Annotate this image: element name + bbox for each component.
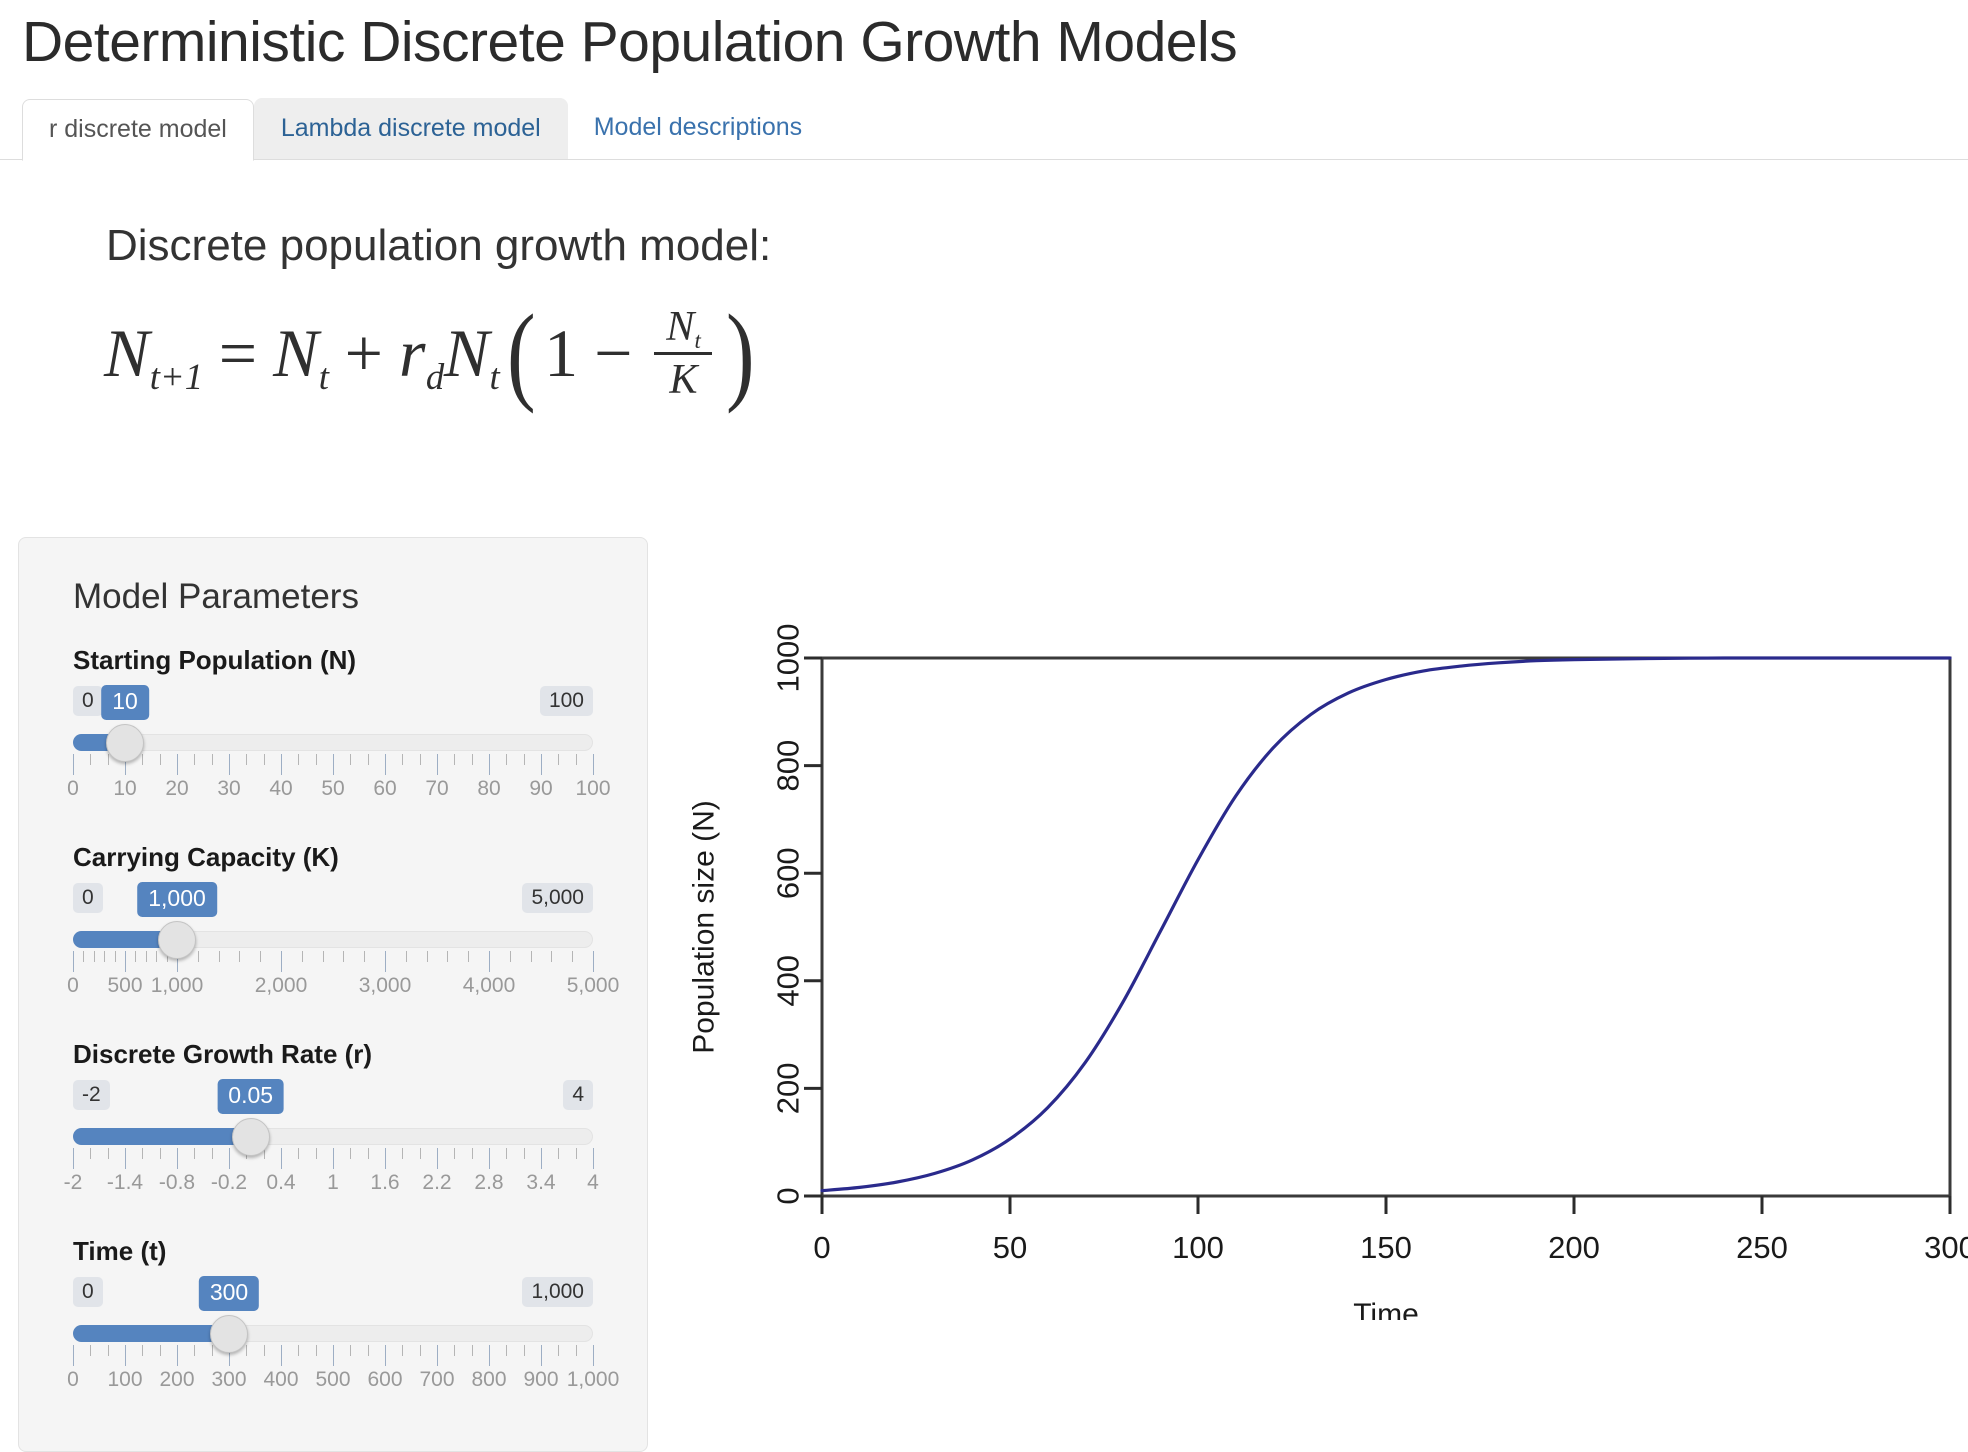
- slider-minor-tick: [531, 951, 532, 962]
- slider-tick: [125, 1345, 126, 1366]
- slider-label-starting-population: Starting Population (N): [73, 645, 593, 676]
- slider-minor-tick: [135, 951, 136, 962]
- slider-tick-label: 800: [471, 1369, 506, 1390]
- slider-minor-tick: [316, 1345, 317, 1356]
- x-axis-tick-label: 50: [993, 1230, 1027, 1265]
- math-subscript: t: [490, 356, 500, 397]
- slider-tick-label: 1.6: [370, 1172, 399, 1193]
- slider-tick: [437, 1148, 438, 1169]
- slider-minor-tick: [90, 1345, 91, 1356]
- math-subscript: d: [426, 356, 444, 397]
- slider-minor-tick: [472, 754, 473, 765]
- y-axis-tick-label: 800: [771, 740, 806, 792]
- slider-minor-tick: [454, 1345, 455, 1356]
- slider-tick-label: 900: [523, 1369, 558, 1390]
- math-right-paren: ): [726, 298, 755, 408]
- math-minus: −: [594, 319, 632, 387]
- slider-minor-tick: [219, 951, 220, 962]
- slider-minor-tick: [350, 1345, 351, 1356]
- slider-tick-label: 50: [321, 778, 344, 799]
- slider-block-carrying-capacity: Carrying Capacity (K)05,0001,00005001,00…: [73, 842, 593, 1013]
- slider-minor-tick: [420, 1148, 421, 1159]
- slider-tick-label: 500: [107, 975, 142, 996]
- slider-minor-tick: [298, 754, 299, 765]
- slider-carrying-capacity[interactable]: 05,0001,00005001,0002,0003,0004,0005,000: [73, 883, 593, 1013]
- math-fraction-Nt-over-K: Nt K: [654, 304, 712, 402]
- slider-minor-tick: [115, 951, 116, 962]
- slider-minor-tick: [264, 1345, 265, 1356]
- slider-value-starting-population: 10: [101, 685, 149, 720]
- slider-tick: [385, 951, 386, 972]
- slider-tick: [541, 754, 542, 775]
- slider-minor-tick: [472, 1148, 473, 1159]
- slider-tick: [177, 754, 178, 775]
- slider-handle-time[interactable]: [210, 1315, 248, 1353]
- slider-fill-discrete-growth-rate: [73, 1128, 251, 1145]
- slider-minor-tick: [454, 754, 455, 765]
- slider-tick: [593, 1345, 594, 1366]
- slider-tick-label: 0: [67, 1369, 79, 1390]
- math-expression: Nt+1 = Nt + rd Nt ( 1 − Nt K ): [104, 298, 763, 408]
- model-heading: Discrete population growth model:: [0, 160, 1968, 270]
- slider-tick: [437, 1345, 438, 1366]
- slider-minor-tick: [212, 754, 213, 765]
- model-parameters-panel: Model Parameters Starting Population (N)…: [18, 537, 648, 1452]
- slider-tick: [593, 754, 594, 775]
- slider-tick-label: 0.4: [266, 1172, 295, 1193]
- slider-max-starting-population: 100: [540, 686, 593, 716]
- slider-minor-tick: [468, 951, 469, 962]
- slider-minor-tick: [160, 1345, 161, 1356]
- slider-minor-tick: [402, 1345, 403, 1356]
- slider-tick-label: 3,000: [359, 975, 412, 996]
- math-N-t-plus-1: Nt+1: [104, 319, 203, 387]
- slider-handle-discrete-growth-rate[interactable]: [232, 1118, 270, 1156]
- slider-minor-tick: [104, 951, 105, 962]
- slider-block-discrete-growth-rate: Discrete Growth Rate (r)-240.05-2-1.4-0.…: [73, 1039, 593, 1210]
- slider-minor-tick: [402, 1148, 403, 1159]
- slider-minor-tick: [350, 1148, 351, 1159]
- slider-tick: [73, 754, 74, 775]
- slider-starting-population[interactable]: 0100100102030405060708090100: [73, 686, 593, 816]
- slider-minor-tick: [576, 1345, 577, 1356]
- slider-tick: [333, 1345, 334, 1366]
- slider-minor-tick: [558, 754, 559, 765]
- y-axis-title: Population size (N): [688, 800, 721, 1053]
- slider-minor-tick: [156, 951, 157, 962]
- slider-minor-tick: [90, 754, 91, 765]
- slider-minor-tick: [402, 754, 403, 765]
- slider-minor-tick: [524, 1345, 525, 1356]
- slider-time[interactable]: 01,00030001002003004005006007008009001,0…: [73, 1277, 593, 1407]
- slider-minor-tick: [447, 951, 448, 962]
- math-fraction-numerator: Nt: [662, 304, 704, 352]
- math-plus: +: [345, 319, 383, 387]
- slider-label-discrete-growth-rate: Discrete Growth Rate (r): [73, 1039, 593, 1070]
- slider-minor-tick: [558, 1345, 559, 1356]
- tab-label: Lambda discrete model: [281, 114, 541, 142]
- slider-minor-tick: [350, 754, 351, 765]
- slider-tick-label: 60: [373, 778, 396, 799]
- y-axis-tick-label: 200: [771, 1063, 806, 1115]
- slider-tick: [593, 1148, 594, 1169]
- slider-minor-tick: [194, 754, 195, 765]
- math-N-t-2: Nt: [444, 319, 500, 387]
- slider-tick-label: 100: [575, 778, 610, 799]
- y-axis-tick-label: 0: [771, 1187, 806, 1204]
- math-subscript: t+1: [150, 356, 203, 397]
- slider-minor-tick: [142, 1345, 143, 1356]
- slider-tick-label: 500: [315, 1369, 350, 1390]
- slider-label-time: Time (t): [73, 1236, 593, 1267]
- slider-grid-discrete-growth-rate: -2-1.4-0.8-0.20.411.62.22.83.44: [73, 1148, 593, 1174]
- math-subscript: t: [695, 328, 701, 353]
- slider-minor-tick: [108, 1148, 109, 1159]
- slider-tick-label: -0.8: [159, 1172, 195, 1193]
- y-axis-tick-label: 400: [771, 955, 806, 1007]
- slider-tick-label: 100: [107, 1369, 142, 1390]
- slider-tick: [541, 1345, 542, 1366]
- slider-value-time: 300: [199, 1276, 259, 1311]
- slider-tick-label: 700: [419, 1369, 454, 1390]
- math-left-paren: (: [507, 298, 536, 408]
- slider-tick-label: 90: [529, 778, 552, 799]
- slider-max-time: 1,000: [522, 1277, 593, 1307]
- panel-title: Model Parameters: [73, 578, 593, 617]
- slider-tick-label: 80: [477, 778, 500, 799]
- page-title: Deterministic Discrete Population Growth…: [0, 0, 1968, 76]
- y-axis-tick-label: 1000: [771, 624, 806, 693]
- slider-tick: [541, 1148, 542, 1169]
- slider-tick-label: 1,000: [151, 975, 204, 996]
- slider-value-carrying-capacity: 1,000: [137, 882, 217, 917]
- model-formula: Nt+1 = Nt + rd Nt ( 1 − Nt K ): [0, 270, 1968, 420]
- slider-tick: [281, 1148, 282, 1169]
- slider-minor-tick: [212, 1148, 213, 1159]
- tab-label: r discrete model: [49, 115, 227, 143]
- slider-minor-tick: [472, 1345, 473, 1356]
- slider-minor-tick: [142, 1148, 143, 1159]
- population-growth-plot: 05010015020025030002004006008001000TimeP…: [680, 560, 1968, 1320]
- slider-minor-tick: [506, 754, 507, 765]
- slider-minor-tick: [506, 1345, 507, 1356]
- slider-minor-tick: [343, 951, 344, 962]
- x-axis-tick-label: 250: [1736, 1230, 1788, 1265]
- slider-minor-tick: [316, 754, 317, 765]
- slider-tick-label: 5,000: [567, 975, 620, 996]
- slider-tick: [385, 1345, 386, 1366]
- tab-lambda-discrete-model[interactable]: Lambda discrete model: [254, 98, 568, 160]
- slider-minor-tick: [108, 1345, 109, 1356]
- x-axis-title: Time: [1353, 1298, 1419, 1320]
- slider-tick: [489, 1148, 490, 1169]
- slider-grid-carrying-capacity: 05001,0002,0003,0004,0005,000: [73, 951, 593, 977]
- slider-tick-label: 4: [587, 1172, 599, 1193]
- slider-minor-tick: [551, 951, 552, 962]
- slider-tick-label: 20: [165, 778, 188, 799]
- slider-grid-starting-population: 0102030405060708090100: [73, 754, 593, 780]
- math-fraction-denominator: K: [665, 355, 701, 403]
- slider-minor-tick: [239, 951, 240, 962]
- slider-tick: [489, 1345, 490, 1366]
- slider-tick: [333, 1148, 334, 1169]
- slider-tick-label: 40: [269, 778, 292, 799]
- slider-tick: [385, 1148, 386, 1169]
- slider-tick-label: 2,000: [255, 975, 308, 996]
- slider-tick: [125, 1148, 126, 1169]
- slider-minor-tick: [108, 754, 109, 765]
- slider-minor-tick: [576, 1148, 577, 1159]
- tab-bar: r discrete model Lambda discrete model M…: [0, 98, 1968, 160]
- slider-block-starting-population: Starting Population (N)01001001020304050…: [73, 645, 593, 816]
- slider-max-discrete-growth-rate: 4: [563, 1080, 593, 1110]
- sliders-container: Starting Population (N)01001001020304050…: [73, 645, 593, 1408]
- slider-minor-tick: [524, 1148, 525, 1159]
- slider-tick-label: 30: [217, 778, 240, 799]
- slider-minor-tick: [364, 951, 365, 962]
- slider-tick: [333, 754, 334, 775]
- slider-tick: [229, 1148, 230, 1169]
- math-one: 1: [544, 319, 578, 387]
- slider-tick: [281, 754, 282, 775]
- slider-tick: [177, 1148, 178, 1169]
- slider-track-starting-population[interactable]: [73, 734, 593, 751]
- math-subscript: t: [319, 356, 329, 397]
- slider-minor-tick: [368, 754, 369, 765]
- slider-minor-tick: [323, 951, 324, 962]
- slider-tick: [125, 951, 126, 972]
- slider-minor-tick: [260, 951, 261, 962]
- slider-minor-tick: [420, 1345, 421, 1356]
- slider-tick-label: -0.2: [211, 1172, 247, 1193]
- math-r-d: rd: [399, 319, 444, 387]
- slider-max-carrying-capacity: 5,000: [522, 883, 593, 913]
- slider-tick: [489, 951, 490, 972]
- slider-minor-tick: [298, 1345, 299, 1356]
- slider-tick: [281, 951, 282, 972]
- slider-minor-tick: [298, 1148, 299, 1159]
- slider-minor-tick: [576, 754, 577, 765]
- slider-tick-label: 300: [211, 1369, 246, 1390]
- slider-tick-label: 2.2: [422, 1172, 451, 1193]
- slider-minor-tick: [246, 1345, 247, 1356]
- y-axis-tick-label: 600: [771, 847, 806, 899]
- slider-tick-label: 2.8: [474, 1172, 503, 1193]
- tab-r-discrete-model[interactable]: r discrete model: [22, 99, 254, 161]
- tab-label: Model descriptions: [594, 113, 802, 141]
- x-axis-tick-label: 150: [1360, 1230, 1412, 1265]
- slider-minor-tick: [302, 951, 303, 962]
- slider-tick-label: 200: [159, 1369, 194, 1390]
- slider-tick: [489, 754, 490, 775]
- slider-tick: [177, 1345, 178, 1366]
- slider-minor-tick: [427, 951, 428, 962]
- x-axis-tick-label: 0: [813, 1230, 830, 1265]
- slider-minor-tick: [146, 951, 147, 962]
- slider-value-discrete-growth-rate: 0.05: [217, 1079, 284, 1114]
- slider-minor-tick: [524, 754, 525, 765]
- slider-tick-label: -1.4: [107, 1172, 143, 1193]
- slider-tick-label: -2: [64, 1172, 83, 1193]
- slider-minor-tick: [198, 951, 199, 962]
- math-equals: =: [219, 319, 257, 387]
- slider-minor-tick: [142, 754, 143, 765]
- slider-grid-time: 01002003004005006007008009001,000: [73, 1345, 593, 1371]
- slider-label-carrying-capacity: Carrying Capacity (K): [73, 842, 593, 873]
- tab-model-descriptions[interactable]: Model descriptions: [568, 98, 828, 160]
- slider-minor-tick: [194, 1148, 195, 1159]
- slider-tick: [73, 1148, 74, 1169]
- slider-tick-label: 1,000: [567, 1369, 620, 1390]
- slider-min-carrying-capacity: 0: [73, 883, 103, 913]
- slider-tick: [593, 951, 594, 972]
- slider-minor-tick: [558, 1148, 559, 1159]
- slider-min-time: 0: [73, 1277, 103, 1307]
- slider-minor-tick: [212, 1345, 213, 1356]
- slider-tick-label: 0: [67, 975, 79, 996]
- slider-min-starting-population: 0: [73, 686, 103, 716]
- math-N-t: Nt: [273, 319, 329, 387]
- slider-minor-tick: [90, 1148, 91, 1159]
- plot-frame: [822, 658, 1950, 1196]
- slider-minor-tick: [246, 754, 247, 765]
- x-axis-tick-label: 100: [1172, 1230, 1224, 1265]
- slider-tick-label: 1: [327, 1172, 339, 1193]
- slider-minor-tick: [510, 951, 511, 962]
- slider-minor-tick: [368, 1148, 369, 1159]
- slider-minor-tick: [94, 951, 95, 962]
- slider-tick: [73, 951, 74, 972]
- slider-tick: [73, 1345, 74, 1366]
- slider-tick: [437, 754, 438, 775]
- slider-minor-tick: [368, 1345, 369, 1356]
- slider-minor-tick: [572, 951, 573, 962]
- slider-minor-tick: [454, 1148, 455, 1159]
- slider-minor-tick: [160, 1148, 161, 1159]
- slider-minor-tick: [420, 754, 421, 765]
- slider-discrete-growth-rate[interactable]: -240.05-2-1.4-0.8-0.20.411.62.22.83.44: [73, 1080, 593, 1210]
- x-axis-tick-label: 200: [1548, 1230, 1600, 1265]
- slider-minor-tick: [506, 1148, 507, 1159]
- slider-min-discrete-growth-rate: -2: [73, 1080, 110, 1110]
- slider-tick-label: 4,000: [463, 975, 516, 996]
- slider-minor-tick: [406, 951, 407, 962]
- slider-minor-tick: [264, 754, 265, 765]
- slider-handle-carrying-capacity[interactable]: [158, 921, 196, 959]
- slider-tick-label: 400: [263, 1369, 298, 1390]
- slider-minor-tick: [160, 754, 161, 765]
- slider-tick-label: 70: [425, 778, 448, 799]
- slider-tick: [385, 754, 386, 775]
- slider-fill-time: [73, 1325, 229, 1342]
- slider-minor-tick: [83, 951, 84, 962]
- plot-svg: 05010015020025030002004006008001000TimeP…: [680, 560, 1968, 1320]
- plot-line-series: [822, 658, 1950, 1191]
- slider-tick-label: 0: [67, 778, 79, 799]
- x-axis-tick-label: 300: [1924, 1230, 1968, 1265]
- slider-tick: [281, 1345, 282, 1366]
- slider-block-time: Time (t)01,00030001002003004005006007008…: [73, 1236, 593, 1407]
- slider-tick: [229, 754, 230, 775]
- slider-minor-tick: [316, 1148, 317, 1159]
- slider-tick-label: 3.4: [526, 1172, 555, 1193]
- slider-minor-tick: [194, 1345, 195, 1356]
- slider-handle-starting-population[interactable]: [106, 724, 144, 762]
- slider-tick-label: 10: [113, 778, 136, 799]
- slider-tick-label: 600: [367, 1369, 402, 1390]
